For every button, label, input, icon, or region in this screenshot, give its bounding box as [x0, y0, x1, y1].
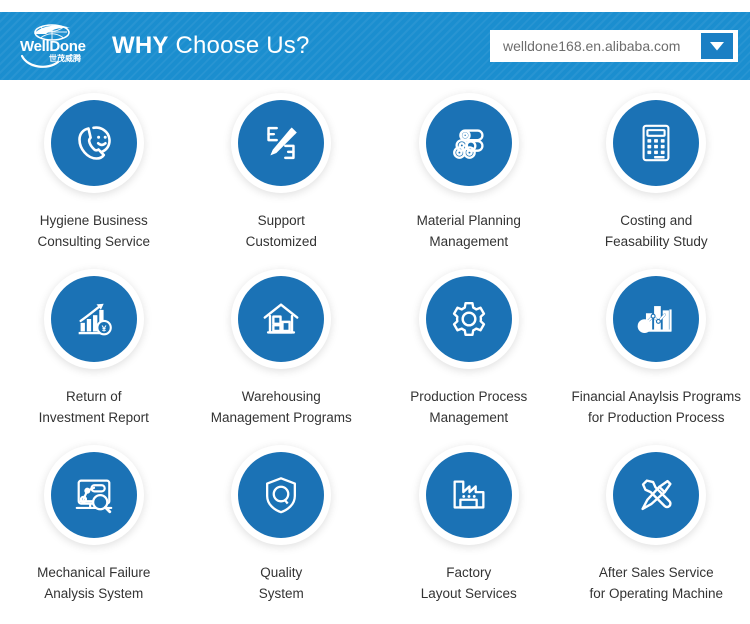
service-item-label: Financial Anaylsis Programs for Producti… — [567, 386, 745, 428]
service-item-factory-layout[interactable]: Factory Layout Services — [375, 440, 563, 616]
welldone-logo[interactable]: WellDone 世茂威腾 — [18, 20, 102, 72]
financial-analysis-chart-icon — [613, 276, 699, 362]
service-item-label: Mechanical Failure Analysis System — [33, 562, 154, 604]
service-item-financial-analysis[interactable]: Financial Anaylsis Programs for Producti… — [563, 264, 750, 440]
service-item-after-sales-service[interactable]: After Sales Service for Operating Machin… — [563, 440, 750, 616]
service-item-mechanical-failure-analysis[interactable]: Mechanical Failure Analysis System — [0, 440, 188, 616]
services-grid: Hygiene Business Consulting Service — [0, 88, 750, 616]
warehouse-boxes-icon — [238, 276, 324, 362]
service-item-label: Support Customized — [242, 210, 321, 252]
wrench-screwdriver-icon — [613, 452, 699, 538]
service-label-line1: Material Planning — [417, 213, 521, 228]
phone-smiley-icon — [51, 100, 137, 186]
pencil-ruler-icon — [238, 100, 324, 186]
service-item-label: Quality System — [255, 562, 308, 604]
service-item-label: Costing and Feasability Study — [601, 210, 712, 252]
service-item-return-on-investment[interactable]: ¥ Return of Investment Report — [0, 264, 188, 440]
why-choose-us-page: WellDone 世茂威腾 WHY Choose Us? welldone168… — [0, 0, 750, 624]
service-label-line1: Mechanical Failure — [37, 565, 150, 580]
service-item-warehousing-management[interactable]: Warehousing Management Programs — [188, 264, 376, 440]
service-label-line2: for Production Process — [571, 407, 741, 428]
svg-text:WellDone: WellDone — [20, 38, 86, 55]
services-row: Hygiene Business Consulting Service — [0, 88, 750, 264]
banner-title-why: WHY — [112, 32, 169, 59]
services-row: ¥ Return of Investment Report — [0, 264, 750, 440]
service-label-line1: Warehousing — [242, 389, 321, 404]
banner-title: WHY Choose Us? — [112, 34, 310, 58]
service-item-label: Factory Layout Services — [417, 562, 521, 604]
service-item-label: Production Process Management — [406, 386, 531, 428]
shield-q-icon — [238, 452, 324, 538]
service-label-line1: Return of — [66, 389, 122, 404]
service-label-line1: Quality — [260, 565, 302, 580]
service-label-line2: for Operating Machine — [589, 583, 723, 604]
service-label-line1: Hygiene Business — [40, 213, 148, 228]
service-item-production-process[interactable]: Production Process Management — [375, 264, 563, 440]
service-label-line2: Management Programs — [211, 407, 352, 428]
svg-text:¥: ¥ — [101, 323, 106, 333]
service-label-line2: Management — [417, 231, 521, 252]
service-item-material-planning[interactable]: Material Planning Management — [375, 88, 563, 264]
services-row: Mechanical Failure Analysis System Q — [0, 440, 750, 616]
growth-chart-currency-icon: ¥ — [51, 276, 137, 362]
service-item-label: Material Planning Management — [413, 210, 525, 252]
svg-text:世茂威腾: 世茂威腾 — [49, 53, 82, 63]
gear-icon — [426, 276, 512, 362]
service-label-line2: Consulting Service — [37, 231, 150, 252]
service-label-line2: Investment Report — [39, 407, 149, 428]
service-label-line2: Layout Services — [421, 583, 517, 604]
service-label-line2: Management — [410, 407, 527, 428]
service-item-label: After Sales Service for Operating Machin… — [585, 562, 727, 604]
service-label-line2: Analysis System — [37, 583, 150, 604]
service-label-line2: Customized — [246, 231, 317, 252]
url-input-value[interactable]: welldone168.en.alibaba.com — [491, 38, 701, 54]
service-item-hygiene-business-consulting[interactable]: Hygiene Business Consulting Service — [0, 88, 188, 264]
service-item-label: Hygiene Business Consulting Service — [33, 210, 154, 252]
chevron-down-icon[interactable] — [701, 33, 733, 59]
factory-icon — [426, 452, 512, 538]
service-label-line1: After Sales Service — [599, 565, 714, 580]
calculator-icon — [613, 100, 699, 186]
service-label-line1: Financial Anaylsis Programs — [571, 389, 741, 404]
banner-title-rest: Choose Us? — [169, 32, 310, 59]
service-item-support-customized[interactable]: Support Customized — [188, 88, 376, 264]
header-banner: WellDone 世茂威腾 WHY Choose Us? welldone168… — [0, 12, 750, 80]
stacked-pipes-icon — [426, 100, 512, 186]
service-label-line2: System — [259, 583, 304, 604]
service-item-label: Return of Investment Report — [35, 386, 153, 428]
monitor-robot-magnifier-icon — [51, 452, 137, 538]
service-label-line1: Support — [258, 213, 305, 228]
service-label-line2: Feasability Study — [605, 231, 708, 252]
service-item-costing-feasability[interactable]: Costing and Feasability Study — [563, 88, 750, 264]
service-item-label: Warehousing Management Programs — [207, 386, 356, 428]
url-input-field[interactable]: welldone168.en.alibaba.com — [490, 30, 738, 62]
service-label-line1: Production Process — [410, 389, 527, 404]
service-item-quality-system[interactable]: Quality System — [188, 440, 376, 616]
service-label-line1: Factory — [446, 565, 491, 580]
service-label-line1: Costing and — [620, 213, 692, 228]
